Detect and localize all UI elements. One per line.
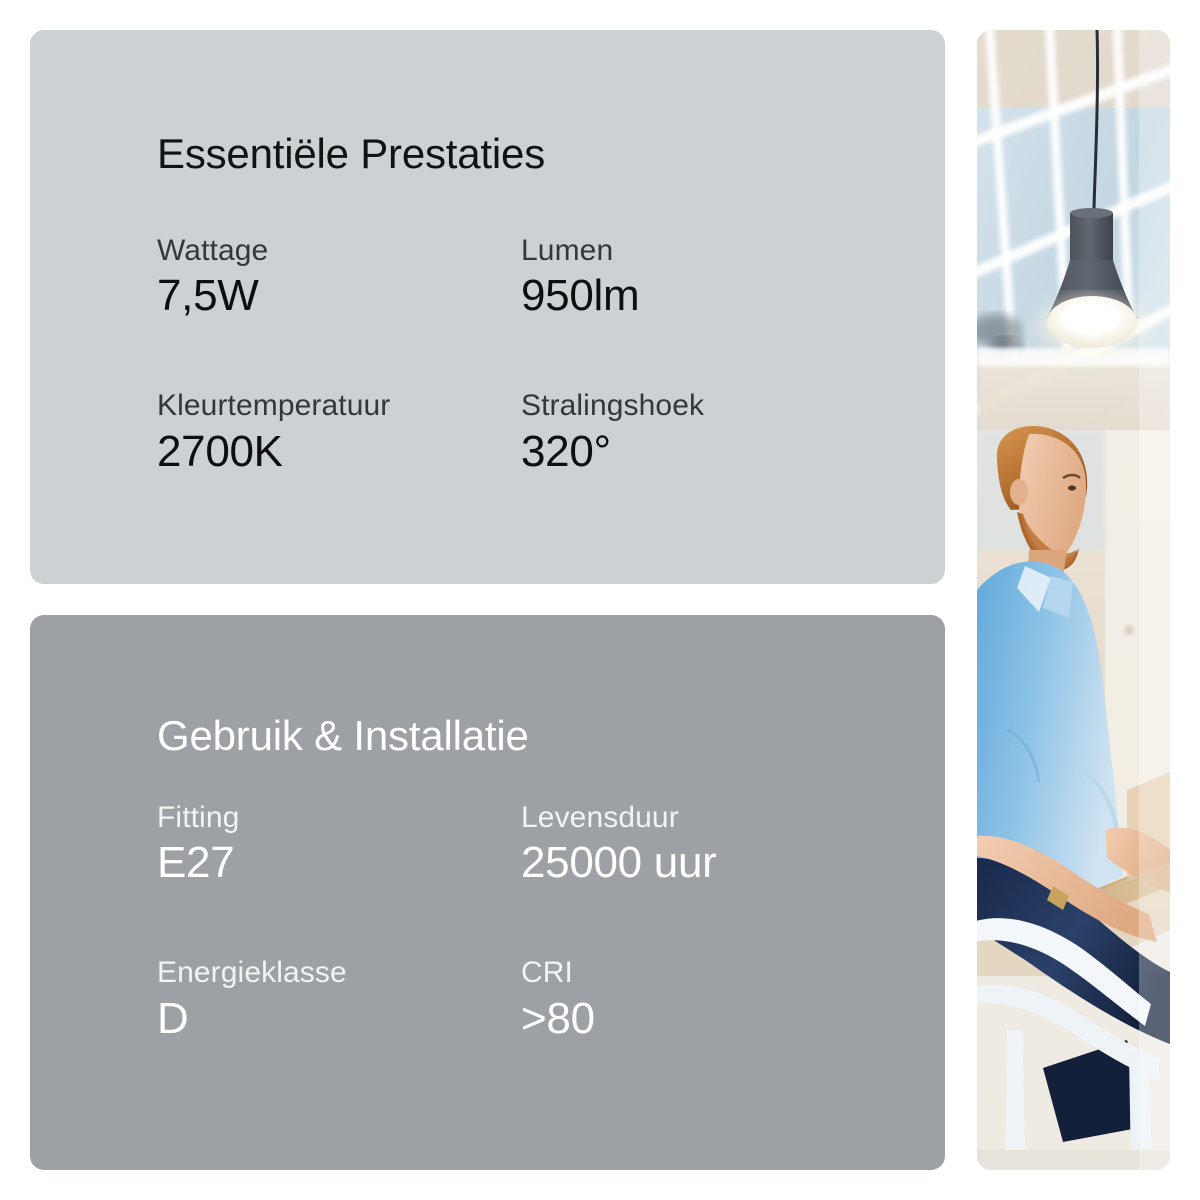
spec-item-fitting: Fitting E27 — [157, 800, 521, 889]
spec-value-kleurtemperatuur: 2700K — [157, 426, 521, 478]
spec-value-wattage: 7,5W — [157, 270, 521, 322]
spec-cards-column: Essentiële Prestaties Wattage 7,5W Lumen… — [30, 30, 945, 1170]
card-essential-performance: Essentiële Prestaties Wattage 7,5W Lumen… — [30, 30, 945, 584]
spec-label-cri: CRI — [521, 955, 917, 990]
spec-grid-usage-installation: Fitting E27 Levensduur 25000 uur Energie… — [157, 800, 917, 1045]
spec-item-cri: CRI >80 — [521, 955, 917, 1044]
spec-label-kleurtemperatuur: Kleurtemperatuur — [157, 388, 521, 423]
spec-item-lumen: Lumen 950lm — [521, 233, 917, 322]
spec-value-lumen: 950lm — [521, 270, 917, 322]
spec-label-levensduur: Levensduur — [521, 800, 917, 835]
spec-value-levensduur: 25000 uur — [521, 837, 917, 889]
card-usage-installation: Gebruik & Installatie Fitting E27 Levens… — [30, 615, 945, 1170]
spec-value-cri: >80 — [521, 993, 917, 1045]
spec-grid-essential-performance: Wattage 7,5W Lumen 950lm Kleurtemperatuu… — [157, 233, 917, 478]
spec-item-levensduur: Levensduur 25000 uur — [521, 800, 917, 889]
spec-label-stralingshoek: Stralingshoek — [521, 388, 917, 423]
photo-illustration — [977, 30, 1170, 1170]
pendant-lamp-office-photo — [977, 30, 1170, 1170]
spec-label-fitting: Fitting — [157, 800, 521, 835]
spec-item-wattage: Wattage 7,5W — [157, 233, 521, 322]
spec-value-fitting: E27 — [157, 837, 521, 889]
spec-value-energieklasse: D — [157, 993, 521, 1045]
spec-label-wattage: Wattage — [157, 233, 521, 268]
spec-sheet-page: Essentiële Prestaties Wattage 7,5W Lumen… — [0, 0, 1200, 1200]
card-title-essential-performance: Essentiële Prestaties — [157, 133, 545, 175]
spec-item-stralingshoek: Stralingshoek 320° — [521, 388, 917, 477]
spec-label-energieklasse: Energieklasse — [157, 955, 521, 990]
spec-label-lumen: Lumen — [521, 233, 917, 268]
spec-item-energieklasse: Energieklasse D — [157, 955, 521, 1044]
card-title-usage-installation: Gebruik & Installatie — [157, 715, 529, 757]
spec-item-kleurtemperatuur: Kleurtemperatuur 2700K — [157, 388, 521, 477]
spec-value-stralingshoek: 320° — [521, 426, 917, 478]
